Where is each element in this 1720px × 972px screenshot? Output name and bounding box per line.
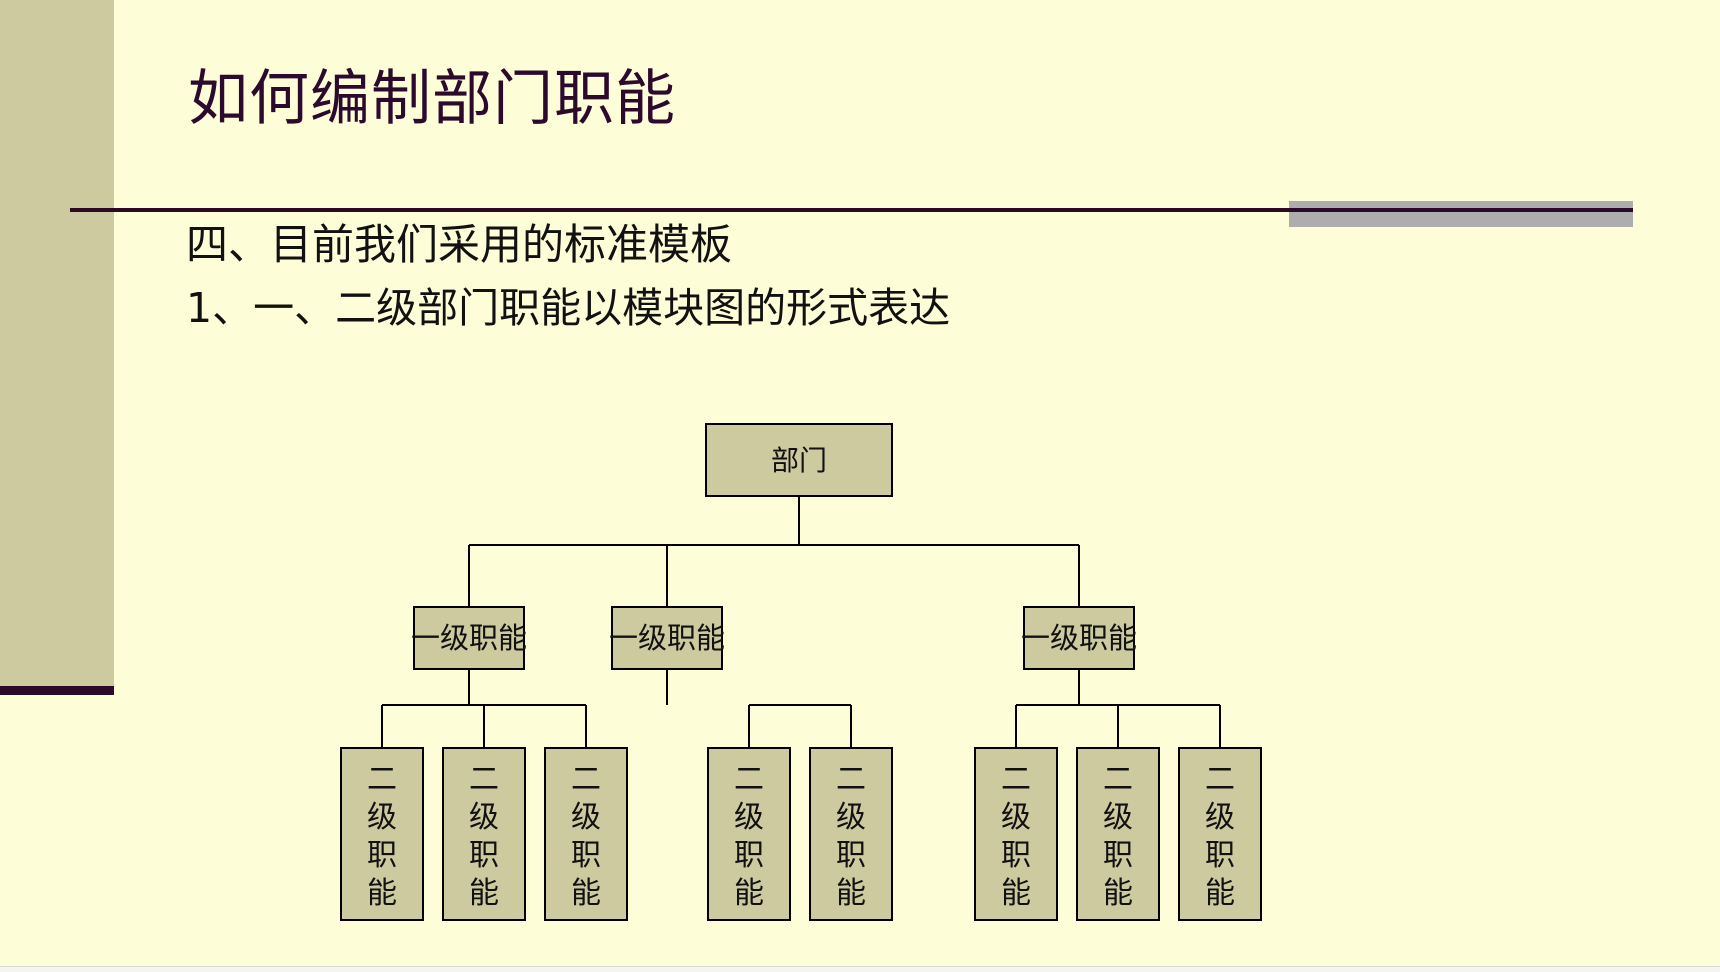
slide-bottom-edge <box>0 966 1720 972</box>
org-node-label: 一级职能 <box>411 621 527 655</box>
presentation-slide: 如何编制部门职能 四、目前我们采用的标准模板 1、一、二级部门职能以模块图的形式… <box>0 0 1720 972</box>
org-node-label: 一级职能 <box>609 621 725 655</box>
org-chart-nodes: 部门一级职能一级职能一级职能二级职能二级职能二级职能二级职能二级职能二级职能二级… <box>341 424 1261 920</box>
slide-canvas: 如何编制部门职能 四、目前我们采用的标准模板 1、一、二级部门职能以模块图的形式… <box>0 0 1720 966</box>
org-node-label: 一级职能 <box>1021 621 1137 655</box>
org-chart-diagram: 部门一级职能一级职能一级职能二级职能二级职能二级职能二级职能二级职能二级职能二级… <box>0 0 1720 966</box>
org-node-label: 部门 <box>771 444 827 477</box>
